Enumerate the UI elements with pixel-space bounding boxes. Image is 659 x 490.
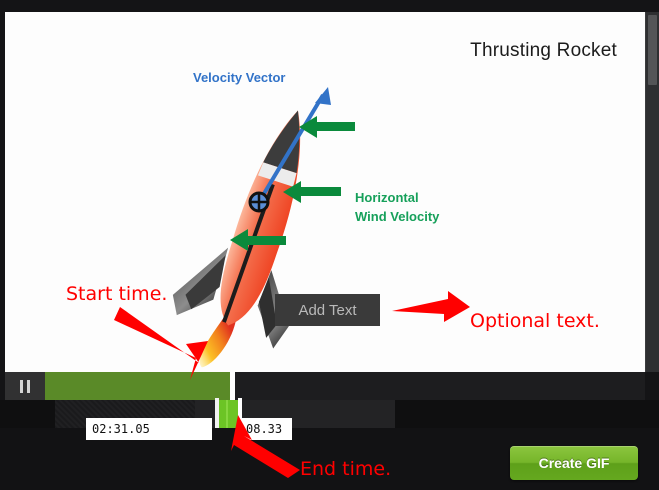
scrollbar-thumb[interactable] — [648, 15, 657, 85]
optional-text-annotation: Optional text. — [470, 310, 600, 332]
create-gif-button[interactable]: Create GIF — [510, 446, 638, 480]
add-text-button[interactable]: Add Text — [275, 294, 380, 326]
playhead-handle[interactable] — [230, 372, 235, 400]
rocket-illustration — [155, 87, 365, 372]
progress-fill — [45, 372, 230, 400]
pause-icon-bar-2 — [27, 380, 30, 393]
pause-icon-bar-1 — [20, 380, 23, 393]
wind-label-line-1: Horizontal — [355, 188, 439, 207]
progress-track[interactable] — [45, 372, 645, 400]
gif-maker-window: Thrusting Rocket Velocity Vector Horizon… — [0, 0, 659, 490]
rocket-nose-cone — [263, 105, 315, 173]
start-time-input[interactable]: 02:31.05 — [86, 418, 212, 440]
velocity-vector-label: Velocity Vector — [193, 70, 286, 85]
playback-bar[interactable] — [5, 372, 645, 400]
wind-label-line-2: Wind Velocity — [355, 207, 439, 226]
end-time-input[interactable]: 08.33 — [240, 418, 292, 440]
pause-button[interactable] — [5, 372, 45, 400]
end-time-annotation: End time. — [300, 458, 391, 480]
vertical-scrollbar[interactable] — [645, 12, 659, 372]
center-of-mass-icon — [250, 193, 268, 211]
horizontal-wind-velocity-label: Horizontal Wind Velocity — [355, 188, 439, 226]
rocket-svg — [155, 87, 365, 372]
video-title: Thrusting Rocket — [470, 40, 617, 62]
rocket-group — [155, 91, 353, 372]
window-top-chrome — [0, 0, 659, 12]
start-time-annotation: Start time. — [66, 283, 167, 305]
